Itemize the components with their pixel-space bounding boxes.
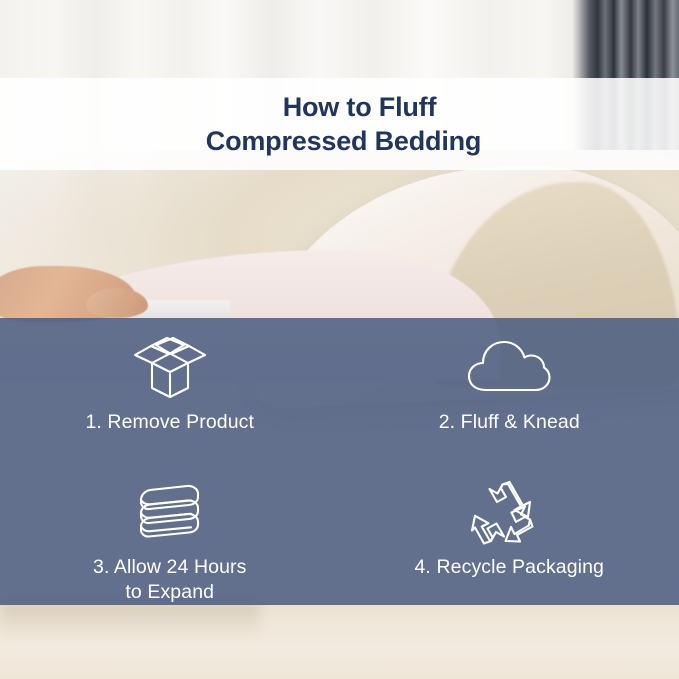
step-label: 3. Allow 24 Hours to Expand xyxy=(93,555,246,605)
steps-grid: 1. Remove Product 2. Fluff & Knead xyxy=(0,318,679,605)
step-item-recycle-packaging: 4. Recycle Packaging xyxy=(340,457,679,605)
step-item-remove-product: 1. Remove Product xyxy=(0,318,340,457)
cloud-icon xyxy=(466,332,552,404)
open-box-icon xyxy=(127,332,213,404)
step-item-fluff-knead: 2. Fluff & Knead xyxy=(340,318,679,457)
step-item-allow-24-hours: 3. Allow 24 Hours to Expand xyxy=(0,457,340,605)
stacked-linens-icon xyxy=(127,477,213,549)
title-line-1: How to Fluff xyxy=(283,90,437,124)
floor xyxy=(0,600,679,679)
step-label: 4. Recycle Packaging xyxy=(414,555,604,580)
infographic-image: How to Fluff Compressed Bedding xyxy=(0,0,679,679)
recycle-icon xyxy=(466,477,552,549)
title-line-2: Compressed Bedding xyxy=(206,124,481,158)
title-banner: How to Fluff Compressed Bedding xyxy=(0,78,679,170)
step-label: 2. Fluff & Knead xyxy=(439,410,580,435)
step-label: 1. Remove Product xyxy=(85,410,254,435)
fingers xyxy=(86,288,148,318)
steps-panel: 1. Remove Product 2. Fluff & Knead xyxy=(0,318,679,605)
